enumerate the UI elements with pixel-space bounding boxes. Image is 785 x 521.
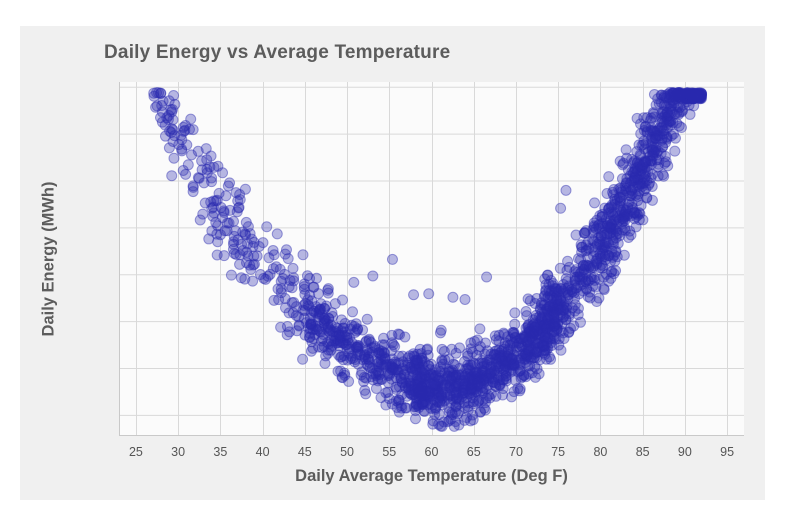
scatter-point bbox=[621, 145, 631, 155]
scatter-point bbox=[377, 351, 387, 361]
scatter-point bbox=[209, 162, 219, 172]
scatter-point bbox=[310, 330, 320, 340]
x-tick-label: 40 bbox=[256, 445, 270, 459]
scatter-point bbox=[530, 299, 540, 309]
scatter-point bbox=[284, 282, 294, 292]
scatter-point bbox=[530, 372, 540, 382]
scatter-point bbox=[401, 403, 411, 413]
scatter-point bbox=[212, 250, 222, 260]
scatter-point bbox=[367, 347, 377, 357]
scatter-point bbox=[564, 311, 574, 321]
scatter-point bbox=[647, 195, 657, 205]
scatter-point bbox=[289, 297, 299, 307]
scatter-point bbox=[427, 380, 437, 390]
scatter-point bbox=[524, 335, 534, 345]
scatter-point bbox=[285, 327, 295, 337]
scatter-point bbox=[233, 196, 243, 206]
scatter-point bbox=[662, 108, 672, 118]
scatter-point bbox=[561, 274, 571, 284]
y-axis-title: Daily Energy (MWh) bbox=[40, 182, 59, 337]
x-tick-label: 75 bbox=[551, 445, 565, 459]
scatter-point bbox=[327, 308, 337, 318]
scatter-point bbox=[521, 307, 531, 317]
scatter-point bbox=[639, 140, 649, 150]
scatter-point bbox=[463, 360, 473, 370]
scatter-point bbox=[167, 104, 177, 114]
scatter-point bbox=[248, 276, 258, 286]
scatter-point bbox=[214, 188, 224, 198]
scatter-point bbox=[430, 365, 440, 375]
scatter-point bbox=[275, 264, 285, 274]
scatter-point bbox=[656, 123, 666, 133]
scatter-point bbox=[436, 421, 446, 431]
scatter-point bbox=[345, 324, 355, 334]
scatter-point bbox=[248, 260, 258, 270]
scatter-point bbox=[396, 374, 406, 384]
scatter-point bbox=[460, 379, 470, 389]
scatter-point bbox=[514, 355, 524, 365]
scatter-point bbox=[580, 227, 590, 237]
scatter-point bbox=[517, 372, 527, 382]
scatter-point bbox=[460, 294, 470, 304]
x-tick-label: 35 bbox=[213, 445, 227, 459]
scatter-point bbox=[630, 173, 640, 183]
scatter-point bbox=[436, 395, 446, 405]
scatter-point bbox=[211, 218, 221, 228]
scatter-point bbox=[651, 145, 661, 155]
scatter-point bbox=[209, 208, 219, 218]
scatter-point bbox=[604, 276, 614, 286]
scatter-point bbox=[531, 346, 541, 356]
x-tick-label: 95 bbox=[720, 445, 734, 459]
scatter-point bbox=[639, 157, 649, 167]
scatter-point bbox=[375, 370, 385, 380]
scatter-point bbox=[361, 337, 371, 347]
scatter-point bbox=[274, 295, 284, 305]
scatter-point bbox=[324, 327, 334, 337]
scatter-point bbox=[609, 184, 619, 194]
x-tick-label: 85 bbox=[636, 445, 650, 459]
scatter-point bbox=[313, 316, 323, 326]
scatter-point bbox=[269, 250, 279, 260]
scatter-point bbox=[308, 343, 318, 353]
scatter-point bbox=[574, 272, 584, 282]
scatter-point bbox=[169, 153, 179, 163]
scatter-point bbox=[238, 227, 248, 237]
scatter-point bbox=[316, 304, 326, 314]
scatter-point bbox=[298, 250, 308, 260]
scatter-point bbox=[165, 126, 175, 136]
scatter-point bbox=[515, 384, 525, 394]
scatter-point bbox=[409, 290, 419, 300]
scatter-point bbox=[177, 146, 187, 156]
scatter-point bbox=[188, 181, 198, 191]
scatter-point bbox=[627, 186, 637, 196]
scatter-point bbox=[376, 393, 386, 403]
scatter-point bbox=[561, 185, 571, 195]
scatter-point bbox=[410, 356, 420, 366]
scatter-point bbox=[510, 308, 520, 318]
scatter-point bbox=[437, 344, 447, 354]
scatter-point bbox=[678, 105, 688, 115]
scatter-point bbox=[187, 150, 197, 160]
scatter-point bbox=[556, 345, 566, 355]
x-tick-label: 60 bbox=[425, 445, 439, 459]
scatter-plot-svg bbox=[119, 82, 744, 436]
scatter-point bbox=[400, 360, 410, 370]
scatter-point bbox=[368, 271, 378, 281]
scatter-point bbox=[670, 146, 680, 156]
scatter-point bbox=[476, 372, 486, 382]
scatter-point bbox=[466, 416, 476, 426]
scatter-point bbox=[392, 385, 402, 395]
plot-frame bbox=[119, 82, 744, 436]
scatter-point bbox=[449, 359, 459, 369]
scatter-point bbox=[281, 245, 291, 255]
scatter-point bbox=[620, 215, 630, 225]
scatter-point bbox=[186, 114, 196, 124]
scatter-point bbox=[240, 184, 250, 194]
scatter-point bbox=[345, 333, 355, 343]
scatter-point bbox=[571, 283, 581, 293]
scatter-point bbox=[479, 403, 489, 413]
scatter-point bbox=[639, 113, 649, 123]
scatter-point bbox=[345, 344, 355, 354]
scatter-point bbox=[558, 328, 568, 338]
scatter-point bbox=[657, 90, 667, 100]
scatter-point bbox=[323, 348, 333, 358]
scatter-point bbox=[362, 314, 372, 324]
scatter-point bbox=[222, 226, 232, 236]
scatter-point bbox=[330, 299, 340, 309]
x-tick-label: 90 bbox=[678, 445, 692, 459]
scatter-point bbox=[298, 354, 308, 364]
scatter-point bbox=[604, 172, 614, 182]
x-tick-label: 70 bbox=[509, 445, 523, 459]
chart-card: Daily Energy vs Average Temperature Dail… bbox=[20, 26, 765, 500]
scatter-point bbox=[336, 352, 346, 362]
scatter-point bbox=[258, 238, 268, 248]
scatter-point bbox=[469, 336, 479, 346]
scatter-point bbox=[454, 370, 464, 380]
scatter-point bbox=[179, 126, 189, 136]
scatter-point bbox=[349, 277, 359, 287]
scatter-point bbox=[288, 263, 298, 273]
scatter-point bbox=[454, 343, 464, 353]
scatter-point bbox=[657, 134, 667, 144]
scatter-point bbox=[400, 332, 410, 342]
scatter-point bbox=[507, 392, 517, 402]
scatter-point bbox=[164, 143, 174, 153]
scatter-point bbox=[273, 284, 283, 294]
x-tick-label: 25 bbox=[129, 445, 143, 459]
scatter-point bbox=[552, 295, 562, 305]
scatter-point bbox=[232, 207, 242, 217]
chart-title: Daily Energy vs Average Temperature bbox=[104, 42, 450, 64]
scatter-point bbox=[424, 289, 434, 299]
scatter-point bbox=[303, 300, 313, 310]
scatter-point bbox=[178, 165, 188, 175]
scatter-point bbox=[556, 203, 566, 213]
scatter-point bbox=[197, 165, 207, 175]
scatter-point bbox=[468, 393, 478, 403]
scatter-point bbox=[590, 198, 600, 208]
x-tick-label: 65 bbox=[467, 445, 481, 459]
scatter-point bbox=[360, 385, 370, 395]
scatter-point bbox=[387, 254, 397, 264]
scatter-point bbox=[573, 310, 583, 320]
scatter-point bbox=[389, 363, 399, 373]
scatter-point bbox=[348, 307, 358, 317]
scatter-point bbox=[582, 283, 592, 293]
scatter-point bbox=[452, 393, 462, 403]
scatter-point bbox=[563, 290, 573, 300]
scatter-point bbox=[299, 284, 309, 294]
scatter-point bbox=[276, 322, 286, 332]
scatter-point bbox=[448, 292, 458, 302]
scatter-point bbox=[547, 308, 557, 318]
scatter-point bbox=[207, 177, 217, 187]
scatter-point bbox=[167, 171, 177, 181]
scatter-point bbox=[499, 328, 509, 338]
scatter-point bbox=[688, 93, 698, 103]
plot-area[interactable] bbox=[119, 82, 744, 436]
scatter-point bbox=[226, 270, 236, 280]
scatter-point bbox=[156, 88, 166, 98]
x-tick-label: 55 bbox=[382, 445, 396, 459]
scatter-point bbox=[371, 384, 381, 394]
scatter-point bbox=[262, 222, 272, 232]
scatter-point bbox=[261, 274, 271, 284]
scatter-point bbox=[630, 207, 640, 217]
scatter-point bbox=[647, 125, 657, 135]
scatter-point bbox=[611, 266, 621, 276]
scatter-point bbox=[581, 245, 591, 255]
scatter-point bbox=[555, 263, 565, 273]
x-tick-label: 30 bbox=[171, 445, 185, 459]
scatter-point bbox=[202, 155, 212, 165]
scatter-point bbox=[437, 355, 447, 365]
scatter-point bbox=[467, 347, 477, 357]
scatter-point bbox=[625, 226, 635, 236]
scatter-point bbox=[151, 102, 161, 112]
scatter-point bbox=[641, 172, 651, 182]
scatter-point bbox=[323, 284, 333, 294]
scatter-point bbox=[675, 90, 685, 100]
scatter-point bbox=[491, 360, 501, 370]
x-tick-label: 45 bbox=[298, 445, 312, 459]
scatter-point bbox=[195, 215, 205, 225]
scatter-point bbox=[501, 371, 511, 381]
scatter-point bbox=[379, 333, 389, 343]
scatter-point bbox=[598, 249, 608, 259]
scatter-point bbox=[333, 366, 343, 376]
scatter-point bbox=[201, 144, 211, 154]
scatter-point bbox=[392, 403, 402, 413]
scatter-point bbox=[334, 341, 344, 351]
scatter-point bbox=[452, 409, 462, 419]
scatter-point bbox=[411, 399, 421, 409]
scatter-point bbox=[444, 372, 454, 382]
scatter-point bbox=[272, 229, 282, 239]
scatter-point bbox=[482, 272, 492, 282]
x-axis-title: Daily Average Temperature (Deg F) bbox=[119, 467, 744, 486]
scatter-point bbox=[612, 252, 622, 262]
scatter-point bbox=[601, 214, 611, 224]
scatter-point bbox=[416, 384, 426, 394]
scatter-point bbox=[436, 325, 446, 335]
scatter-point bbox=[243, 251, 253, 261]
x-tick-label: 80 bbox=[593, 445, 607, 459]
scatter-point bbox=[213, 237, 223, 247]
scatter-point bbox=[544, 286, 554, 296]
scatter-point bbox=[200, 198, 210, 208]
scatter-point bbox=[430, 404, 440, 414]
scatter-point bbox=[475, 324, 485, 334]
scatter-point bbox=[350, 355, 360, 365]
y-axis-label-area: Daily Energy (MWh) bbox=[34, 82, 64, 436]
x-tick-label: 50 bbox=[340, 445, 354, 459]
